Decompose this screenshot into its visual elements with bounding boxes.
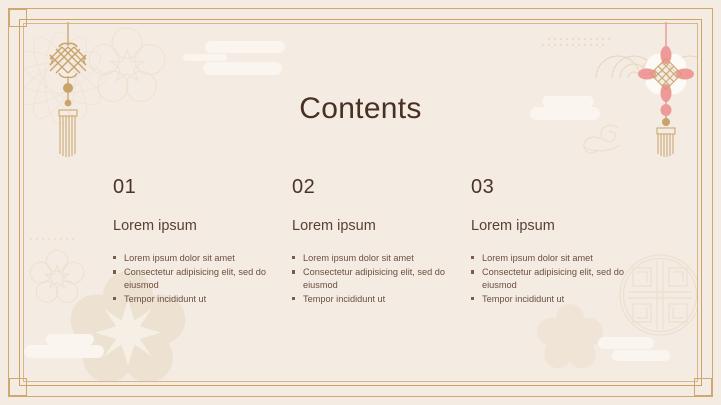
bullet-square-icon — [292, 270, 295, 273]
bullet-square-icon — [113, 297, 116, 300]
section-heading: Lorem ipsum — [292, 218, 457, 234]
bullet-square-icon — [471, 256, 474, 259]
list-item-text: Lorem ipsum dolor sit amet — [303, 253, 414, 263]
list-item: Lorem ipsum dolor sit amet — [292, 252, 457, 264]
list-item-text: Tempor incididunt ut — [303, 294, 385, 304]
corner-accent-bottom-right — [694, 378, 712, 396]
list-item-text: Consectetur adipisicing elit, sed do eiu… — [482, 267, 624, 289]
content-section-02[interactable]: 02 Lorem ipsum Lorem ipsum dolor sit ame… — [292, 176, 457, 308]
bullet-square-icon — [471, 270, 474, 273]
section-number: 02 — [292, 176, 457, 199]
section-bullet-list: Lorem ipsum dolor sit amet Consectetur a… — [471, 252, 636, 306]
list-item: Lorem ipsum dolor sit amet — [471, 252, 636, 264]
bullet-square-icon — [471, 297, 474, 300]
section-number: 01 — [113, 176, 278, 199]
list-item-text: Consectetur adipisicing elit, sed do eiu… — [124, 267, 266, 289]
section-heading: Lorem ipsum — [113, 218, 278, 234]
bullet-square-icon — [292, 256, 295, 259]
contents-columns: 01 Lorem ipsum Lorem ipsum dolor sit ame… — [0, 176, 721, 308]
list-item-text: Lorem ipsum dolor sit amet — [124, 253, 235, 263]
list-item: Tempor incididunt ut — [471, 293, 636, 305]
page-title: Contents — [0, 92, 721, 126]
section-number: 03 — [471, 176, 636, 199]
slide-contents: Contents 01 Lorem ipsum Lorem ipsum dolo… — [0, 0, 721, 405]
content-section-01[interactable]: 01 Lorem ipsum Lorem ipsum dolor sit ame… — [113, 176, 278, 308]
bullet-square-icon — [292, 297, 295, 300]
section-heading: Lorem ipsum — [471, 218, 636, 234]
corner-accent-bottom-left — [9, 378, 27, 396]
corner-accent-top-left — [9, 9, 27, 27]
list-item-text: Tempor incididunt ut — [482, 294, 564, 304]
list-item: Consectetur adipisicing elit, sed do eiu… — [471, 266, 636, 291]
list-item-text: Consectetur adipisicing elit, sed do eiu… — [303, 267, 445, 289]
list-item: Tempor incididunt ut — [113, 293, 278, 305]
list-item: Lorem ipsum dolor sit amet — [113, 252, 278, 264]
section-bullet-list: Lorem ipsum dolor sit amet Consectetur a… — [113, 252, 278, 306]
list-item-text: Lorem ipsum dolor sit amet — [482, 253, 593, 263]
list-item: Tempor incididunt ut — [292, 293, 457, 305]
content-section-03[interactable]: 03 Lorem ipsum Lorem ipsum dolor sit ame… — [471, 176, 636, 308]
list-item: Consectetur adipisicing elit, sed do eiu… — [113, 266, 278, 291]
bullet-square-icon — [113, 256, 116, 259]
bullet-square-icon — [113, 270, 116, 273]
list-item-text: Tempor incididunt ut — [124, 294, 206, 304]
list-item: Consectetur adipisicing elit, sed do eiu… — [292, 266, 457, 291]
section-bullet-list: Lorem ipsum dolor sit amet Consectetur a… — [292, 252, 457, 306]
